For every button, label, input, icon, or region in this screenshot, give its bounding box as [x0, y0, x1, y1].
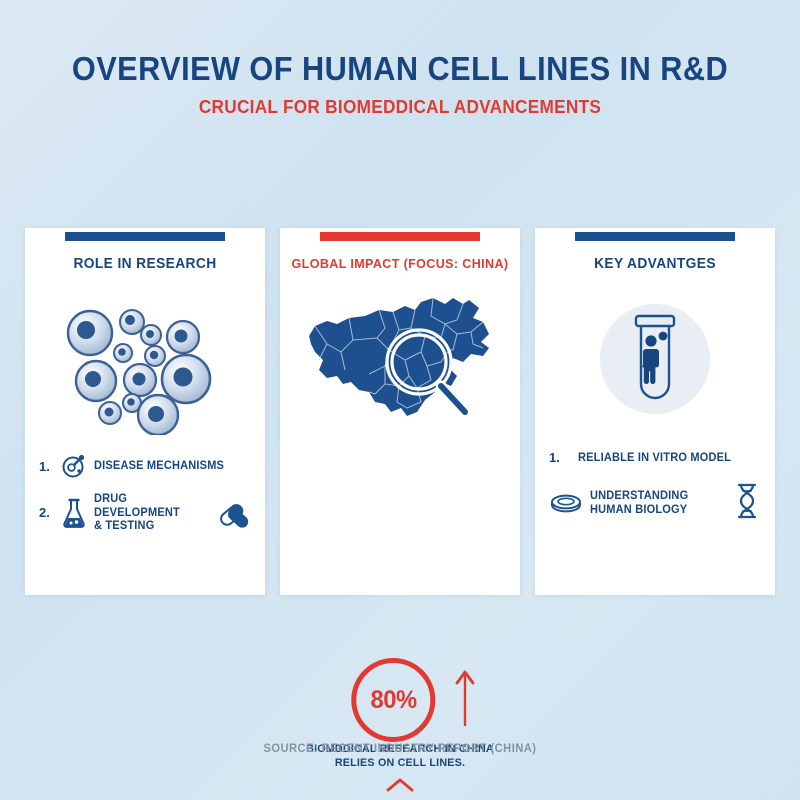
pills-icon	[217, 498, 251, 528]
list-item[interactable]: 1. RELIABLE IN VITRO MODEL	[535, 450, 775, 465]
stat-circle: 80%	[351, 658, 435, 742]
source-note: SOURCE: RECENT INDUSTRY REPORT (CHINA)	[16, 742, 784, 755]
card-title: ROLE IN RESEARCH	[31, 256, 259, 272]
chevron-up-icon	[280, 777, 520, 798]
card-accent-bar	[575, 232, 735, 241]
list-item-number: 1.	[39, 459, 54, 474]
card-item-list: 1. DISEASE MECHANISMS 2.	[25, 453, 265, 546]
list-item-label: RELIABLE IN VITRO MODEL	[578, 451, 731, 465]
list-item[interactable]: 2. DRUG DEVELOPMENT & TESTING	[25, 492, 265, 533]
list-item[interactable]: 1. DISEASE MECHANISMS	[25, 453, 265, 479]
flask-icon	[61, 497, 87, 529]
list-item-label: DISEASE MECHANISMS	[94, 459, 224, 473]
list-item-label: UNDERSTANDING HUMAN BIOLOGY	[590, 489, 688, 516]
list-item-label: DRUG DEVELOPMENT & TESTING	[94, 492, 204, 533]
card-accent-bar	[320, 232, 480, 241]
list-item-number: 2.	[39, 505, 54, 520]
card-accent-bar	[65, 232, 225, 241]
stat-row: 80%	[280, 658, 520, 738]
stat-block: 80% BIOMDDICAL RESEARCH IN CHINA RELIES …	[280, 658, 520, 798]
cards-container: ROLE IN RESEARCH	[0, 228, 800, 598]
list-item[interactable]: UNDERSTANDING HUMAN BIOLOGY	[535, 483, 775, 523]
page-title: OVERVIEW OF HUMAN CELL LINES IN R&D	[28, 52, 772, 87]
infographic-canvas: OVERVIEW OF HUMAN CELL LINES IN R&D CRUC…	[0, 0, 800, 800]
card-title: GLOBAL IMPACT (FOCUS: CHINA)	[286, 256, 514, 271]
dna-helix-icon	[733, 483, 761, 523]
petri-dish-icon	[549, 491, 583, 515]
page-subtitle: CRUCIAL FOR BIOMEDDICAL ADVANCEMENTS	[28, 96, 772, 118]
card-item-list: 1. RELIABLE IN VITRO MODEL UNDERSTANDING…	[535, 450, 775, 536]
microscope-target-icon	[61, 453, 87, 479]
stat-value: 80%	[370, 686, 416, 715]
card-title: KEY ADVANTGES	[541, 256, 769, 272]
card-role-in-research[interactable]: ROLE IN RESEARCH	[25, 228, 265, 595]
card-key-advantages[interactable]: KEY ADVANTGES 1. RELIABLE IN VITRO M	[535, 228, 775, 595]
up-arrow-icon	[452, 666, 478, 733]
card-global-impact[interactable]: GLOBAL IMPACT (FOCUS: CHINA)	[280, 228, 520, 595]
china-map-magnifier-illustration	[280, 290, 520, 435]
header: OVERVIEW OF HUMAN CELL LINES IN R&D CRUC…	[0, 52, 800, 118]
list-item-number: 1.	[549, 450, 564, 465]
test-tube-human-icon	[535, 294, 775, 429]
cell-cluster-illustration	[25, 300, 265, 440]
